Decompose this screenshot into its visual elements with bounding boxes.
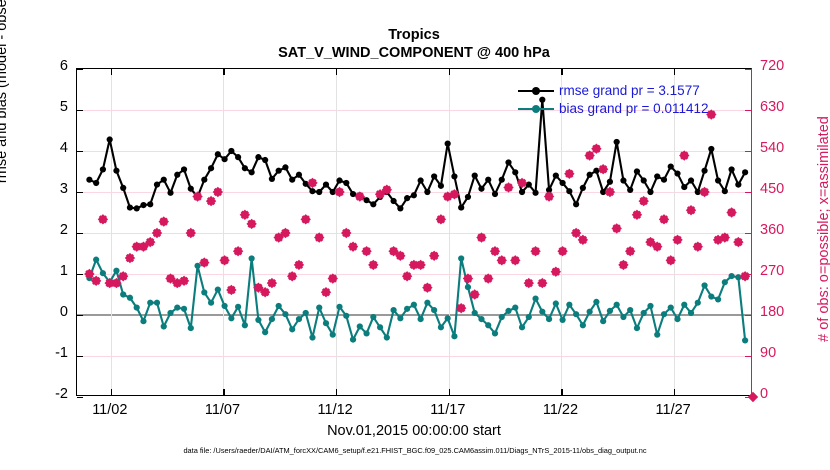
- series-point-bias: [722, 279, 728, 285]
- series-point-rmse: [580, 185, 586, 191]
- series-point-bias: [350, 337, 356, 343]
- series-point-bias: [397, 315, 403, 321]
- series-point-bias: [411, 302, 417, 308]
- series-point-rmse: [93, 180, 99, 186]
- series-point-bias: [485, 322, 491, 328]
- series-point-bias: [120, 291, 126, 297]
- series-point-rmse: [188, 186, 194, 192]
- series-point-rmse: [532, 190, 538, 196]
- series-point-rmse: [309, 188, 315, 194]
- series-point-rmse: [86, 177, 92, 183]
- series-point-rmse: [742, 169, 748, 175]
- series-point-bias: [343, 313, 349, 319]
- series-point-rmse: [512, 169, 518, 175]
- legend-label: rmse grand pr = 3.1577: [559, 82, 700, 100]
- x-axis-ticklabel: 11/12: [300, 402, 370, 418]
- series-point-rmse: [701, 168, 707, 174]
- series-point-rmse: [161, 177, 167, 183]
- series-point-rmse: [208, 165, 214, 171]
- series-point-bias: [445, 315, 451, 321]
- y-axis-left-ticklabel: 5: [34, 99, 68, 115]
- series-point-rmse: [438, 183, 444, 189]
- series-point-bias: [499, 314, 505, 320]
- y-axis-right-ticklabel: 360: [760, 222, 802, 238]
- series-point-rmse: [167, 190, 173, 196]
- series-point-bias: [573, 311, 579, 317]
- y-axis-right-ticklabel: 0: [760, 386, 802, 402]
- series-point-rmse: [668, 163, 674, 169]
- series-point-rmse: [215, 151, 221, 157]
- series-point-rmse: [228, 148, 234, 154]
- series-point-bias: [113, 268, 119, 274]
- series-point-rmse: [553, 173, 559, 179]
- series-point-rmse: [113, 168, 119, 174]
- series-point-bias: [532, 296, 538, 302]
- series-point-rmse: [181, 166, 187, 172]
- y-axis-left-ticklabel: 2: [34, 222, 68, 238]
- series-point-rmse: [688, 177, 694, 183]
- series-point-bias: [735, 274, 741, 280]
- x-axis-ticklabel: 11/27: [638, 402, 708, 418]
- series-point-bias: [330, 332, 336, 338]
- series-point-bias: [641, 310, 647, 316]
- series-point-rmse: [127, 204, 133, 210]
- series-point-rmse: [431, 173, 437, 179]
- series-point-rmse: [323, 182, 329, 188]
- series-point-bias: [647, 303, 653, 309]
- series-point-bias: [566, 302, 572, 308]
- obs-count-marker: [748, 392, 758, 402]
- series-point-rmse: [728, 166, 734, 172]
- series-point-bias: [458, 255, 464, 261]
- series-point-bias: [418, 316, 424, 322]
- series-point-bias: [681, 302, 687, 308]
- series-point-bias: [451, 333, 457, 339]
- series-point-rmse: [445, 141, 451, 147]
- series-point-rmse: [404, 195, 410, 201]
- series-point-bias: [289, 326, 295, 332]
- series-point-rmse: [343, 180, 349, 186]
- series-point-rmse: [661, 177, 667, 183]
- series-point-bias: [607, 308, 613, 314]
- series-point-rmse: [201, 177, 207, 183]
- series-point-bias: [519, 324, 525, 330]
- series-point-bias: [242, 322, 248, 328]
- series-point-rmse: [418, 177, 424, 183]
- series-point-bias: [404, 306, 410, 312]
- series-point-bias: [181, 306, 187, 312]
- series-point-bias: [559, 317, 565, 323]
- series-point-bias: [296, 316, 302, 322]
- series-point-bias: [255, 317, 261, 323]
- series-point-rmse: [316, 189, 322, 195]
- series-point-bias: [100, 270, 106, 276]
- series-point-bias: [701, 282, 707, 288]
- series-point-bias: [215, 286, 221, 292]
- y-axis-right-ticklabel: 450: [760, 181, 802, 197]
- series-point-bias: [654, 332, 660, 338]
- series-point-rmse: [262, 157, 268, 163]
- series-point-bias: [249, 255, 255, 261]
- series-point-rmse: [255, 154, 261, 160]
- series-point-bias: [424, 300, 430, 306]
- chart-title-region: Tropics: [76, 26, 752, 44]
- series-point-rmse: [458, 204, 464, 210]
- series-point-rmse: [566, 188, 572, 194]
- series-point-bias: [194, 263, 200, 269]
- y-axis-left-ticklabel: -1: [34, 345, 68, 361]
- y-axis-right-ticklabel: 270: [760, 263, 802, 279]
- series-point-bias: [600, 318, 606, 324]
- series-point-rmse: [614, 139, 620, 145]
- series-point-bias: [93, 257, 99, 263]
- series-point-rmse: [120, 185, 126, 191]
- series-point-rmse: [634, 168, 640, 174]
- series-point-bias: [526, 314, 532, 320]
- y-axis-left-ticklabel: -2: [34, 386, 68, 402]
- series-bias: [86, 255, 748, 343]
- series-point-bias: [384, 334, 390, 340]
- series-point-rmse: [289, 177, 295, 183]
- series-point-rmse: [478, 186, 484, 192]
- series-point-bias: [269, 316, 275, 322]
- series-point-bias: [161, 323, 167, 329]
- series-point-rmse: [472, 173, 478, 179]
- series-point-rmse: [397, 205, 403, 211]
- series-point-rmse: [674, 170, 680, 176]
- series-point-rmse: [154, 182, 160, 188]
- series-point-rmse: [140, 202, 146, 208]
- series-point-bias: [228, 315, 234, 321]
- y-axis-left-ticklabel: 4: [34, 140, 68, 156]
- series-point-rmse: [363, 197, 369, 203]
- series-point-rmse: [519, 189, 525, 195]
- series-point-bias: [276, 303, 282, 309]
- y-axis-right-ticklabel: 540: [760, 140, 802, 156]
- series-point-bias: [593, 299, 599, 305]
- series-point-rmse: [235, 154, 241, 160]
- series-point-bias: [127, 295, 133, 301]
- data-file-note: data file: /Users/raeder/DAI/ATM_forcXX/…: [0, 446, 830, 455]
- series-point-bias: [728, 273, 734, 279]
- series-point-bias: [668, 305, 674, 311]
- series-point-bias: [580, 322, 586, 328]
- series-point-bias: [208, 300, 214, 306]
- y-axis-left-ticklabel: 3: [34, 181, 68, 197]
- series-point-bias: [262, 329, 268, 335]
- series-point-bias: [587, 309, 593, 315]
- series-point-rmse: [654, 173, 660, 179]
- series-point-bias: [167, 310, 173, 316]
- series-point-bias: [627, 307, 633, 313]
- series-point-bias: [303, 310, 309, 316]
- series-point-rmse: [174, 172, 180, 178]
- y-axis-right-title: # of obs: o=possible; x=assimilated: [816, 64, 830, 394]
- series-point-rmse: [451, 173, 457, 179]
- series-point-rmse: [735, 182, 741, 188]
- series-point-rmse: [641, 177, 647, 183]
- series-point-bias: [174, 305, 180, 311]
- series-point-bias: [742, 337, 748, 343]
- series-point-bias: [661, 311, 667, 317]
- chart-title-variable: SAT_V_WIND_COMPONENT @ 400 hPa: [76, 44, 752, 63]
- series-point-bias: [147, 300, 153, 306]
- x-axis-ticklabel: 11/22: [525, 402, 595, 418]
- series-point-rmse: [276, 168, 282, 174]
- series-point-bias: [492, 330, 498, 336]
- legend-label: bias grand pr = 0.011412: [559, 100, 709, 118]
- series-point-bias: [235, 304, 241, 310]
- series-point-bias: [309, 334, 315, 340]
- series-point-rmse: [722, 188, 728, 194]
- legend-entry-bias[interactable]: bias grand pr = 0.011412: [518, 100, 709, 118]
- series-point-bias: [316, 305, 322, 311]
- series-point-rmse: [134, 205, 140, 211]
- series-point-rmse: [593, 168, 599, 174]
- legend-marker-icon: [518, 84, 554, 98]
- series-point-rmse: [607, 179, 613, 185]
- series-point-rmse: [715, 177, 721, 183]
- series-point-bias: [188, 325, 194, 331]
- chart-legend[interactable]: rmse grand pr = 3.1577bias grand pr = 0.…: [514, 80, 713, 121]
- y-axis-left-ticklabel: 1: [34, 263, 68, 279]
- series-point-rmse: [249, 169, 255, 175]
- x-axis-ticklabel: 11/07: [187, 402, 257, 418]
- series-point-bias: [431, 307, 437, 313]
- series-point-rmse: [708, 146, 714, 152]
- series-point-bias: [620, 314, 626, 320]
- series-point-rmse: [627, 187, 633, 193]
- y-axis-right-ticklabel: 180: [760, 304, 802, 320]
- y-axis-left-ticklabel: 0: [34, 304, 68, 320]
- series-point-bias: [695, 300, 701, 306]
- y-axis-left-tick: [77, 397, 83, 398]
- series-point-bias: [505, 308, 511, 314]
- series-point-bias: [708, 293, 714, 299]
- y-axis-right-ticklabel: 720: [760, 58, 802, 74]
- series-point-bias: [465, 284, 471, 290]
- series-point-rmse: [370, 201, 376, 207]
- series-point-rmse: [499, 177, 505, 183]
- series-point-rmse: [147, 201, 153, 207]
- series-point-rmse: [573, 201, 579, 207]
- series-point-bias: [363, 330, 369, 336]
- series-point-rmse: [492, 191, 498, 197]
- series-point-rmse: [485, 177, 491, 183]
- series-point-rmse: [269, 176, 275, 182]
- series-point-bias: [221, 303, 227, 309]
- series-point-rmse: [296, 172, 302, 178]
- series-point-bias: [140, 318, 146, 324]
- series-point-rmse: [221, 156, 227, 162]
- x-axis-title: Nov.01,2015 00:00:00 start: [76, 423, 752, 439]
- series-point-bias: [154, 300, 160, 306]
- series-point-bias: [715, 296, 721, 302]
- series-point-bias: [674, 316, 680, 322]
- series-point-rmse: [465, 194, 471, 200]
- series-point-rmse: [620, 177, 626, 183]
- series-point-bias: [282, 311, 288, 317]
- series-point-bias: [323, 320, 329, 326]
- series-point-rmse: [336, 177, 342, 183]
- series-point-rmse: [390, 198, 396, 204]
- legend-marker-icon: [518, 102, 554, 116]
- series-point-bias: [478, 316, 484, 322]
- y-axis-left-ticklabel: 6: [34, 58, 68, 74]
- y-axis-right-ticklabel: 630: [760, 99, 802, 115]
- series-point-rmse: [411, 192, 417, 198]
- series-point-rmse: [282, 164, 288, 170]
- chart-title-block: Tropics SAT_V_WIND_COMPONENT @ 400 hPa: [76, 26, 752, 63]
- series-point-bias: [634, 325, 640, 331]
- series-point-bias: [377, 324, 383, 330]
- series-point-rmse: [559, 180, 565, 186]
- series-point-bias: [390, 307, 396, 313]
- series-point-bias: [614, 302, 620, 308]
- series-point-bias: [357, 323, 363, 329]
- series-point-rmse: [505, 159, 511, 165]
- series-point-bias: [438, 324, 444, 330]
- series-point-bias: [512, 305, 518, 311]
- series-point-rmse: [107, 136, 113, 142]
- series-point-bias: [134, 305, 140, 311]
- series-point-bias: [201, 289, 207, 295]
- series-point-rmse: [647, 189, 653, 195]
- series-point-bias: [553, 300, 559, 306]
- chart-figure: Tropics SAT_V_WIND_COMPONENT @ 400 hPa -…: [0, 0, 830, 470]
- series-obs-possible: [84, 109, 750, 313]
- series-point-bias: [546, 316, 552, 322]
- series-point-bias: [336, 304, 342, 310]
- series-point-rmse: [424, 189, 430, 195]
- y-axis-right-ticklabel: 90: [760, 345, 802, 361]
- series-point-rmse: [303, 181, 309, 187]
- series-point-bias: [472, 310, 478, 316]
- x-axis-ticklabel: 11/17: [413, 402, 483, 418]
- series-point-rmse: [242, 165, 248, 171]
- y-axis-left-title: rmse and bias (model - observation): [0, 0, 10, 232]
- series-point-bias: [688, 310, 694, 316]
- series-point-rmse: [587, 172, 593, 178]
- legend-entry-rmse[interactable]: rmse grand pr = 3.1577: [518, 82, 709, 100]
- series-point-rmse: [100, 166, 106, 172]
- x-axis-ticklabel: 11/02: [75, 402, 145, 418]
- series-point-bias: [370, 314, 376, 320]
- series-point-rmse: [681, 184, 687, 190]
- series-point-bias: [539, 309, 545, 315]
